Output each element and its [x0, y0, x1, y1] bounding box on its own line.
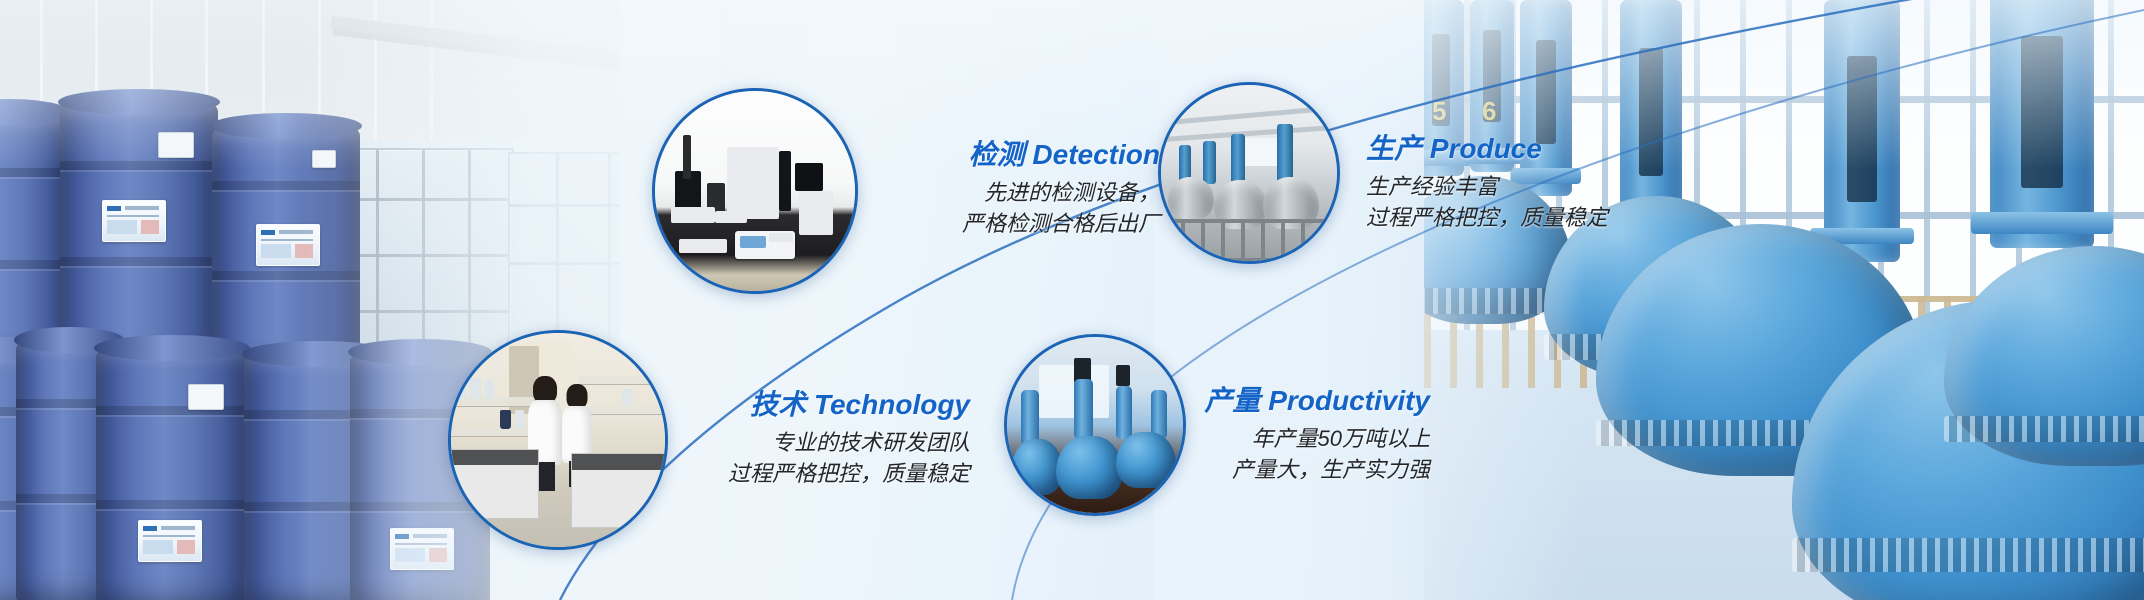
productivity-line-2: 产量大，生产实力强	[840, 455, 1430, 486]
detection-line-2: 严格检测合格后出厂	[700, 209, 1160, 240]
productivity-text-block: 产量 Productivity 年产量50万吨以上 产量大，生产实力强	[840, 384, 1430, 486]
produce-text-block: 生产 Produce 生产经验丰富 过程严格把控，质量稳定	[1366, 132, 1826, 234]
produce-line-1: 生产经验丰富	[1366, 172, 1826, 203]
connector-arc-main	[560, 0, 2144, 600]
detection-heading: 检测 Detection	[700, 138, 1160, 171]
produce-line-2: 过程严格把控，质量稳定	[1366, 203, 1826, 234]
detection-text-block: 检测 Detection 先进的检测设备， 严格检测合格后出厂	[700, 138, 1160, 240]
produce-heading: 生产 Produce	[1366, 132, 1826, 165]
company-strengths-banner: 5 6	[0, 0, 2144, 600]
detection-line-1: 先进的检测设备，	[700, 178, 1160, 209]
produce-photo-circle[interactable]	[1158, 82, 1340, 264]
stainless-steel-reactor-hall-photo	[1161, 85, 1337, 261]
productivity-heading: 产量 Productivity	[840, 384, 1430, 417]
productivity-line-1: 年产量50万吨以上	[840, 424, 1430, 455]
